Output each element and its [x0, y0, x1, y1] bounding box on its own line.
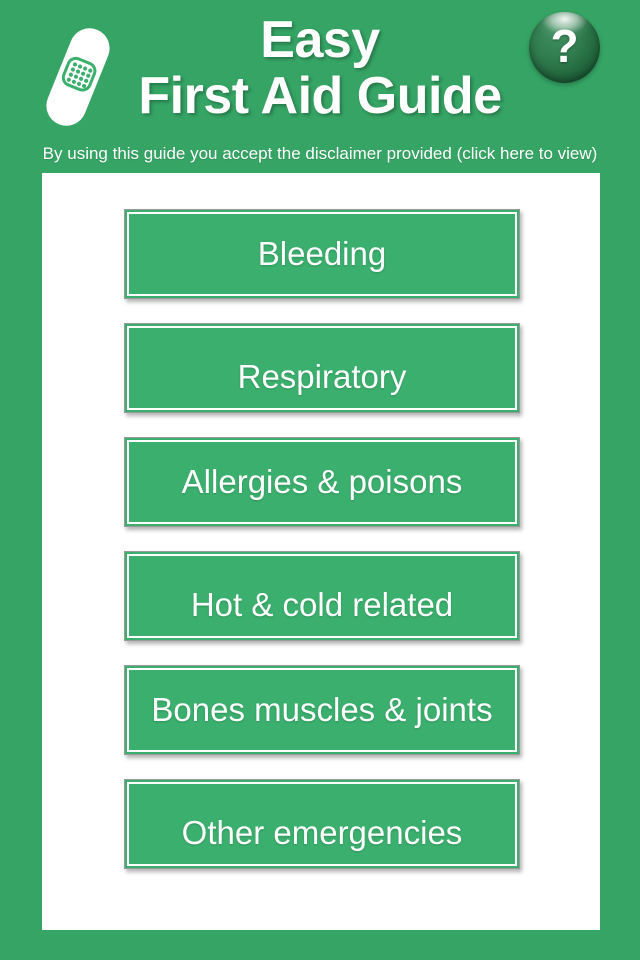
menu-button-bleeding[interactable]: Bleeding: [124, 209, 520, 299]
page-title: Easy First Aid Guide: [120, 14, 520, 122]
menu-button-respiratory[interactable]: Respiratory: [124, 323, 520, 413]
app-root: Easy First Aid Guide ? By using this gui…: [0, 0, 640, 960]
page-title-line-1: Easy: [120, 14, 520, 70]
app-header: Easy First Aid Guide ? By using this gui…: [0, 0, 640, 173]
menu-button-other-emergencies[interactable]: Other emergencies: [124, 779, 520, 869]
category-menu: Bleeding Respiratory Allergies & poisons…: [124, 209, 520, 869]
menu-button-allergies-poisons[interactable]: Allergies & poisons: [124, 437, 520, 527]
menu-button-label: Respiratory: [238, 358, 407, 396]
menu-button-label: Hot & cold related: [191, 586, 453, 624]
help-button[interactable]: ?: [529, 12, 600, 83]
menu-button-bones-muscles-joints[interactable]: Bones muscles & joints: [124, 665, 520, 755]
page-title-line-2: First Aid Guide: [120, 70, 520, 122]
question-mark-icon: ?: [529, 12, 600, 83]
disclaimer-link[interactable]: By using this guide you accept the discl…: [0, 143, 640, 165]
bandage-icon: [42, 22, 114, 132]
menu-button-hot-cold-related[interactable]: Hot & cold related: [124, 551, 520, 641]
menu-button-label: Allergies & poisons: [182, 463, 463, 501]
menu-button-label: Other emergencies: [182, 814, 463, 852]
content-panel: Bleeding Respiratory Allergies & poisons…: [42, 173, 600, 930]
menu-button-label: Bleeding: [258, 235, 386, 273]
menu-button-label: Bones muscles & joints: [151, 691, 492, 729]
